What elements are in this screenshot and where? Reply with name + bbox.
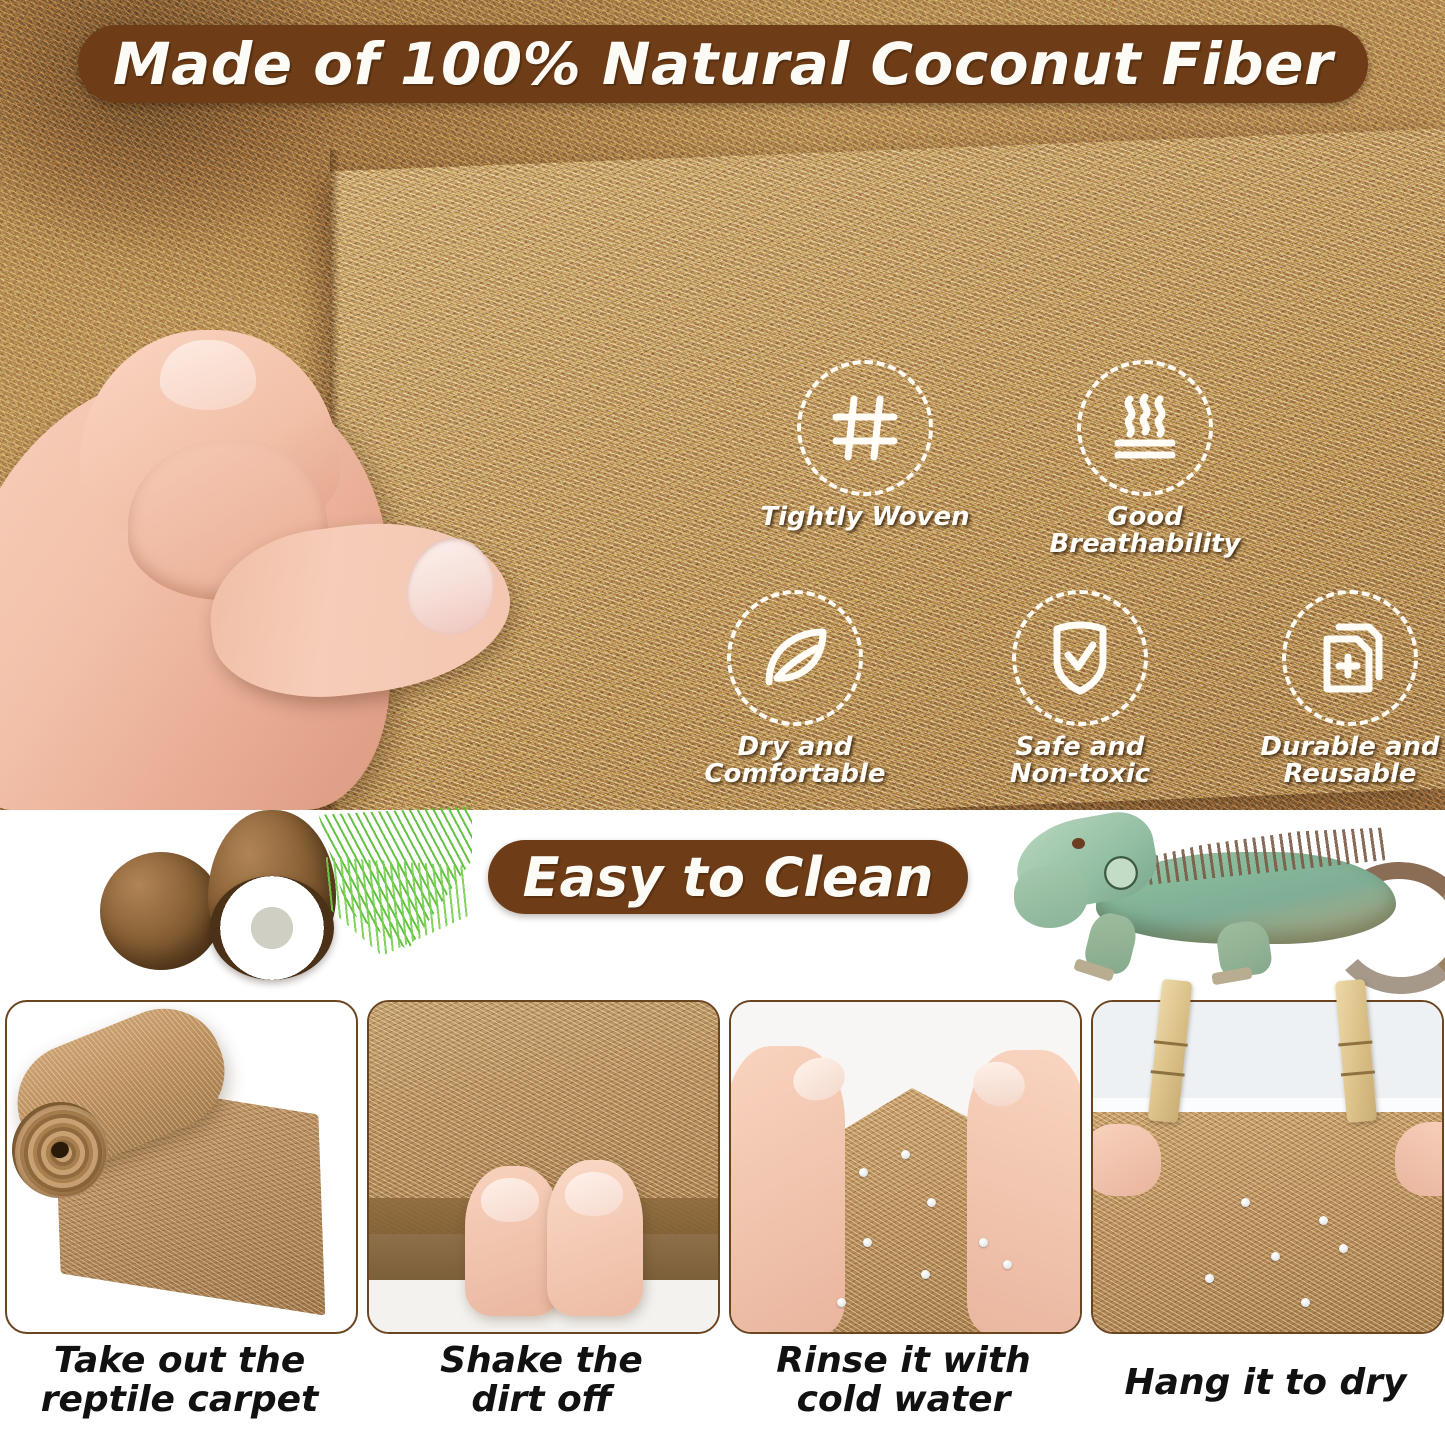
hero-coconut-fiber-photo: Tightly Woven Good Breathability xyxy=(0,0,1445,810)
feature-dry-comfortable: Dry and Comfortable xyxy=(690,590,900,789)
coconuts-with-palm-leaf xyxy=(80,810,410,980)
water-droplet xyxy=(837,1298,846,1307)
caption-line1: Shake the xyxy=(440,1340,643,1381)
step-caption-rinse: Rinse it with cold water xyxy=(729,1342,1078,1420)
step-panel-shake xyxy=(367,1000,720,1334)
product-infographic: Tightly Woven Good Breathability xyxy=(0,0,1445,1444)
feature-icon-group: Tightly Woven Good Breathability xyxy=(700,360,1445,810)
water-droplet xyxy=(1205,1274,1214,1283)
steam-lines-icon xyxy=(1106,389,1184,467)
water-droplet xyxy=(921,1270,930,1279)
feature-safe-non-toxic: Safe and Non-toxic xyxy=(975,590,1185,789)
hand-holding-coconut-fiber-mat xyxy=(0,330,520,810)
caption-line1: Rinse it with xyxy=(776,1340,1031,1381)
feature-label: Dry and Comfortable xyxy=(690,734,900,789)
feature-circle xyxy=(797,360,933,496)
feature-label: Tightly Woven xyxy=(760,504,970,531)
right-fingernail xyxy=(565,1172,623,1216)
water-droplet xyxy=(1003,1260,1012,1269)
caption-line2: cold water xyxy=(797,1379,1011,1420)
water-droplet xyxy=(1319,1216,1328,1225)
hero-banner: Made of 100% Natural Coconut Fiber xyxy=(78,25,1368,103)
step-panel-take-out xyxy=(5,1000,358,1334)
cleaning-steps-row: Take out the reptile carpet Shake the di… xyxy=(0,998,1445,1444)
feature-circle xyxy=(1077,360,1213,496)
easy-to-clean-banner: Easy to Clean xyxy=(488,840,968,914)
whole-coconut-left xyxy=(100,852,222,970)
feature-label: Good Breathability xyxy=(1040,504,1250,559)
water-droplet xyxy=(1301,1298,1310,1307)
index-fingernail xyxy=(160,340,256,410)
shield-check-icon xyxy=(1045,619,1115,697)
feature-label-line1: Safe and xyxy=(1016,732,1145,762)
left-fingernail xyxy=(481,1178,539,1222)
leaf-icon xyxy=(757,620,833,696)
green-iguana-photo xyxy=(1000,810,1440,982)
water-droplet xyxy=(927,1198,936,1207)
easy-to-clean-section: Easy to Clean xyxy=(0,810,1445,998)
feature-label-line2: Reusable xyxy=(1283,759,1416,789)
water-droplet xyxy=(1339,1244,1348,1253)
step-panel-hang xyxy=(1091,1000,1444,1334)
water-droplet xyxy=(901,1150,910,1159)
water-droplet xyxy=(1241,1198,1250,1207)
water-droplet xyxy=(859,1168,868,1177)
feature-good-breathability: Good Breathability xyxy=(1040,360,1250,559)
caption-line2: dirt off xyxy=(471,1379,611,1420)
easy-to-clean-title: Easy to Clean xyxy=(523,846,934,909)
feature-tightly-woven: Tightly Woven xyxy=(760,360,970,531)
left-hand xyxy=(1091,1124,1161,1196)
iguana-eye xyxy=(1072,838,1085,849)
iguana-dewlap xyxy=(1014,866,1088,928)
step-caption-shake: Shake the dirt off xyxy=(367,1342,716,1420)
feature-circle xyxy=(727,590,863,726)
feature-circle xyxy=(1282,590,1418,726)
iguana-hind-claw xyxy=(1211,967,1252,986)
palm-leaf xyxy=(312,806,472,956)
caption-line2: reptile carpet xyxy=(41,1379,319,1420)
caption-line1: Hang it to dry xyxy=(1125,1362,1407,1403)
water-droplet xyxy=(863,1238,872,1247)
feature-label: Safe and Non-toxic xyxy=(975,734,1185,789)
document-plus-icon xyxy=(1313,619,1387,697)
feature-circle xyxy=(1012,590,1148,726)
feature-label-line1: Dry and xyxy=(737,732,852,762)
caption-line1: Take out the xyxy=(54,1340,306,1381)
feature-durable-reusable: Durable and Reusable xyxy=(1245,590,1445,789)
step-panel-rinse xyxy=(729,1000,1082,1334)
water-droplet xyxy=(979,1238,988,1247)
hero-banner-title: Made of 100% Natural Coconut Fiber xyxy=(113,30,1333,98)
step-caption-take-out: Take out the reptile carpet xyxy=(5,1342,354,1420)
grid-hash-icon xyxy=(828,391,902,465)
step-caption-hang: Hang it to dry xyxy=(1091,1364,1440,1403)
feature-label-line2: Non-toxic xyxy=(1010,759,1150,789)
iguana-tympanum xyxy=(1104,856,1138,890)
feature-label: Durable and Reusable xyxy=(1245,734,1445,789)
feature-label-line2: Comfortable xyxy=(704,759,885,789)
water-droplet xyxy=(1271,1252,1280,1261)
feature-label-line1: Durable and xyxy=(1260,732,1439,762)
